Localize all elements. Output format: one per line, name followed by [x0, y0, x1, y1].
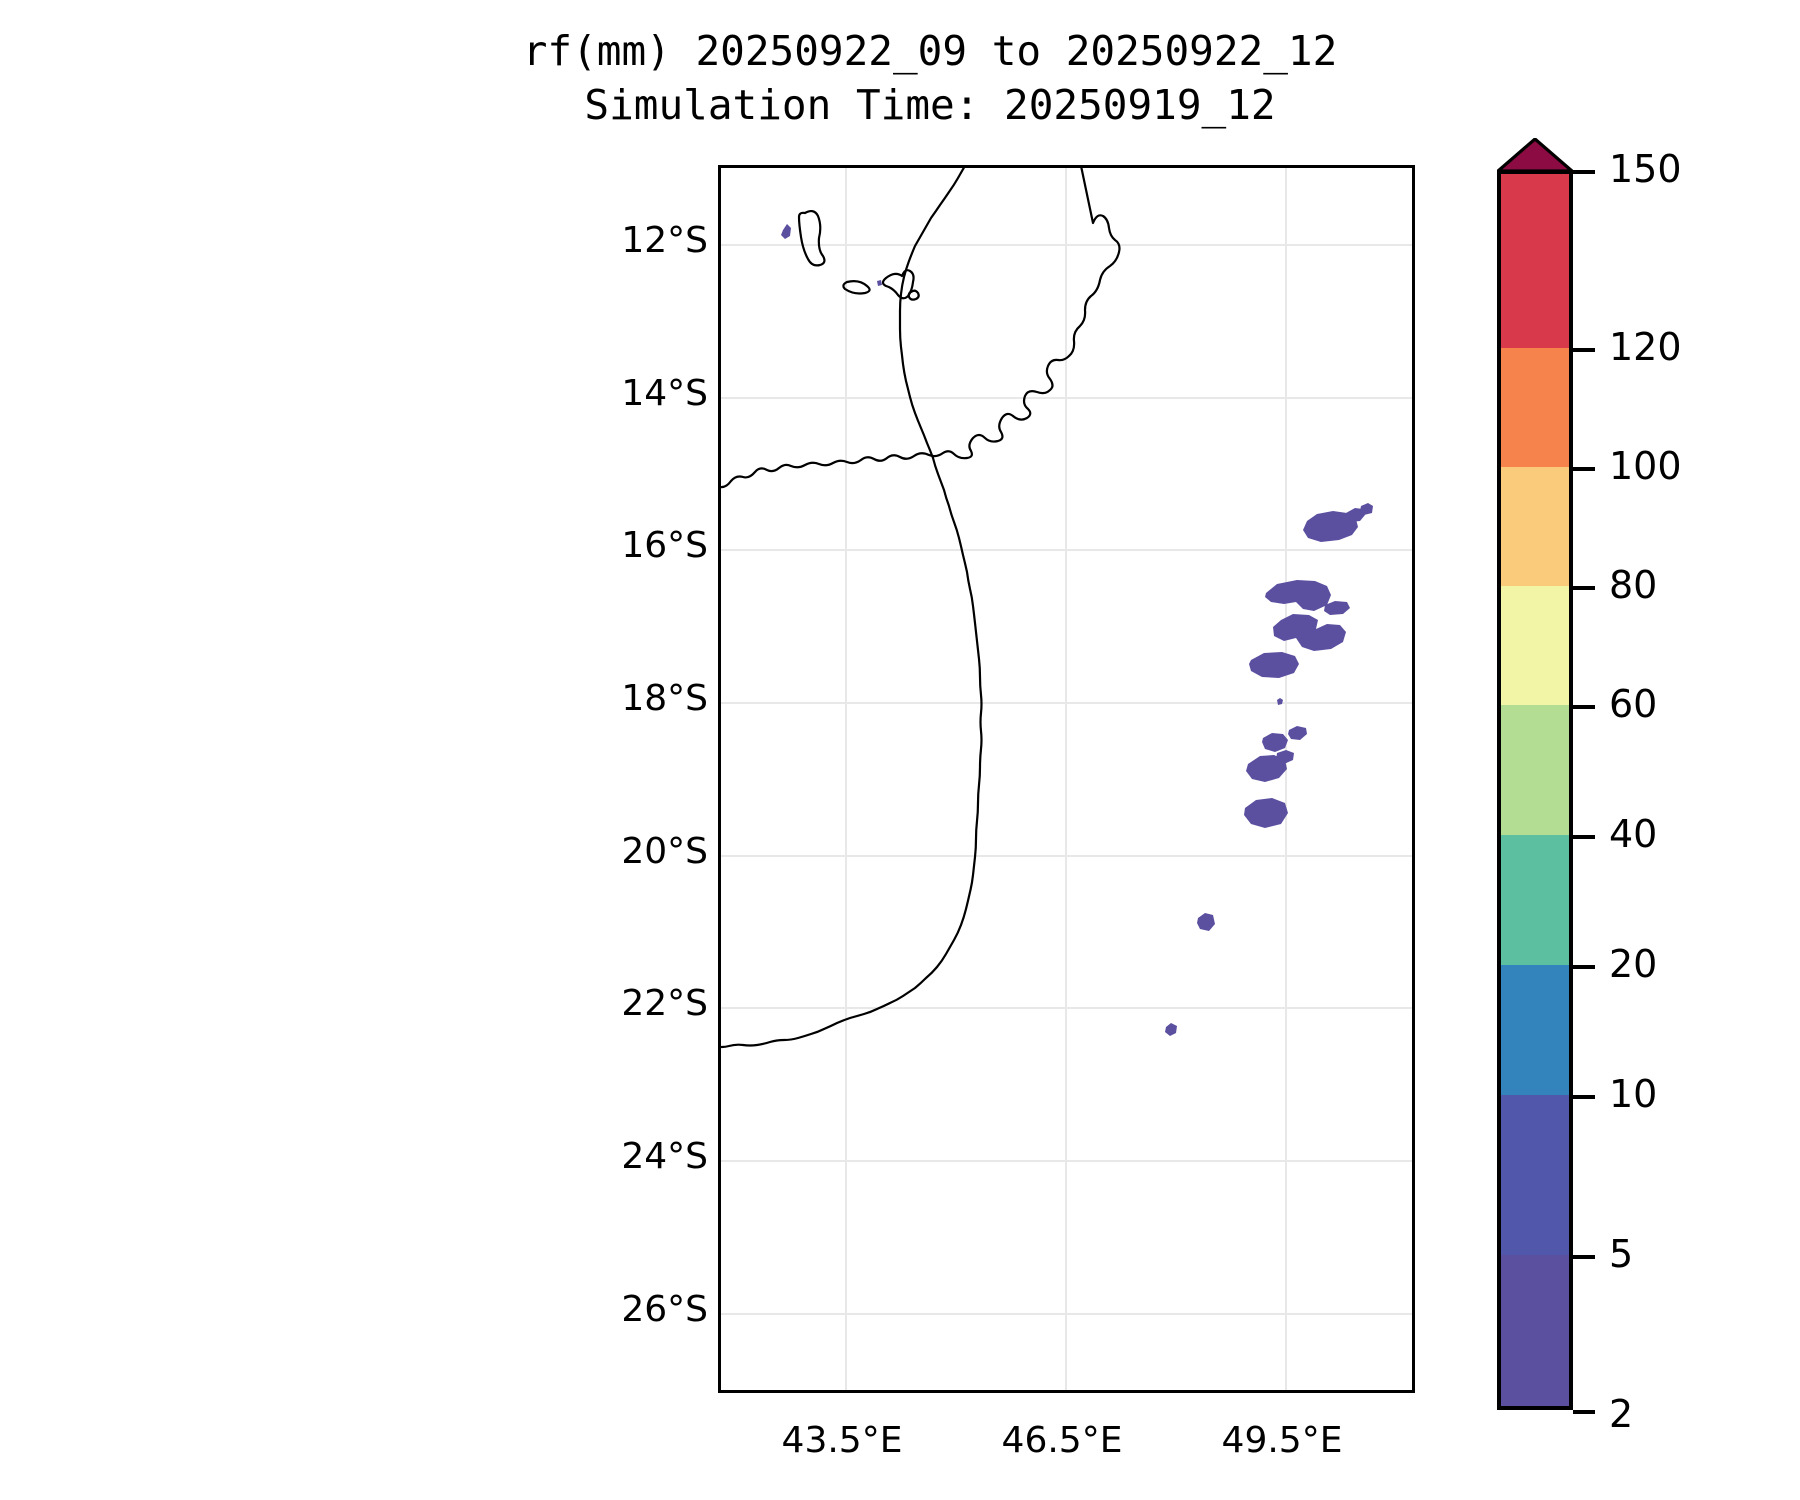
- title-line-1: rf(mm) 20250922_09 to 20250922_12: [0, 24, 1800, 78]
- colorbar-label-80: 80: [1609, 563, 1657, 607]
- colorbar-segment-10-20: [1497, 965, 1573, 1095]
- colorbar-extend-arrow-icon: [1497, 138, 1573, 172]
- ytick-label-22s: 22°S: [621, 983, 708, 1024]
- colorbar-tick-10: [1573, 1095, 1595, 1099]
- colorbar[interactable]: 150 120 100 80 60 40 20 10 5 2: [1497, 140, 1797, 1420]
- precip-blob-comoros-a: [781, 224, 791, 239]
- colorbar-tick-120: [1573, 348, 1595, 352]
- colorbar-label-40: 40: [1609, 812, 1657, 856]
- precip-shading-layer: [781, 224, 1373, 1036]
- ytick-label-14s: 14°S: [621, 373, 708, 414]
- ytick-label-26s: 26°S: [621, 1289, 708, 1330]
- colorbar-gradient: [1497, 170, 1573, 1410]
- map-clip: [721, 168, 1412, 1390]
- colorbar-tick-2: [1573, 1410, 1595, 1414]
- coastline-moheli: [843, 281, 869, 293]
- colorbar-segment-20-40: [1497, 835, 1573, 965]
- coastline-grande-comore: [799, 211, 824, 265]
- colorbar-tick-150: [1573, 170, 1595, 174]
- precip-blob-16-5s: [1265, 580, 1331, 611]
- colorbar-segment-100-120: [1497, 348, 1573, 467]
- colorbar-tick-100: [1573, 467, 1595, 471]
- colorbar-segment-80-100: [1497, 467, 1573, 586]
- coastline-madagascar: [721, 168, 1120, 1047]
- map-overlay: [721, 168, 1412, 1390]
- colorbar-label-60: 60: [1609, 682, 1657, 726]
- figure-title: rf(mm) 20250922_09 to 20250922_12 Simula…: [0, 24, 1800, 132]
- colorbar-label-2: 2: [1609, 1392, 1633, 1436]
- precip-blob-16-9s-b: [1324, 601, 1350, 615]
- map-plot-area[interactable]: [718, 165, 1415, 1393]
- ytick-label-24s: 24°S: [621, 1136, 708, 1177]
- colorbar-segment-40-60: [1497, 705, 1573, 835]
- precip-blob-18-7s: [1244, 798, 1288, 828]
- coastline-mayotte: [909, 291, 919, 300]
- colorbar-label-20: 20: [1609, 942, 1657, 986]
- colorbar-label-10: 10: [1609, 1072, 1657, 1116]
- xtick-label-46-5e: 46.5°E: [1002, 1420, 1123, 1461]
- ytick-label-20s: 20°S: [621, 831, 708, 872]
- precip-dot-17-6s: [1277, 698, 1283, 705]
- colorbar-label-100: 100: [1609, 444, 1682, 488]
- precip-blob-18-1s-b: [1288, 726, 1307, 740]
- precip-blob-20s: [1165, 1023, 1177, 1036]
- precip-blob-19-35s: [1197, 913, 1215, 931]
- title-line-2: Simulation Time: 20250919_12: [0, 78, 1800, 132]
- xtick-label-43-5e: 43.5°E: [782, 1420, 903, 1461]
- colorbar-segment-2-5: [1497, 1255, 1573, 1410]
- colorbar-label-5: 5: [1609, 1232, 1633, 1276]
- colorbar-tick-20: [1573, 965, 1595, 969]
- colorbar-tick-5: [1573, 1255, 1595, 1259]
- colorbar-label-120: 120: [1609, 325, 1682, 369]
- colorbar-segment-60-80: [1497, 586, 1573, 705]
- colorbar-segment-5-10: [1497, 1095, 1573, 1255]
- figure-root: rf(mm) 20250922_09 to 20250922_12 Simula…: [0, 0, 1800, 1500]
- coastline-layer: [721, 168, 1120, 1047]
- colorbar-label-150: 150: [1609, 147, 1682, 191]
- colorbar-tick-40: [1573, 835, 1595, 839]
- colorbar-tick-60: [1573, 705, 1595, 709]
- precip-blob-comoros-b: [877, 280, 882, 286]
- xtick-label-49-5e: 49.5°E: [1222, 1420, 1343, 1461]
- colorbar-tick-80: [1573, 586, 1595, 590]
- ytick-label-16s: 16°S: [621, 525, 708, 566]
- precip-blob-18-1s-a: [1262, 733, 1288, 752]
- ytick-label-12s: 12°S: [621, 220, 708, 261]
- precip-blob-17-25s: [1249, 652, 1299, 678]
- precip-blob-16-9s: [1273, 614, 1346, 651]
- ytick-label-18s: 18°S: [621, 678, 708, 719]
- colorbar-segment-120-150: [1497, 170, 1573, 348]
